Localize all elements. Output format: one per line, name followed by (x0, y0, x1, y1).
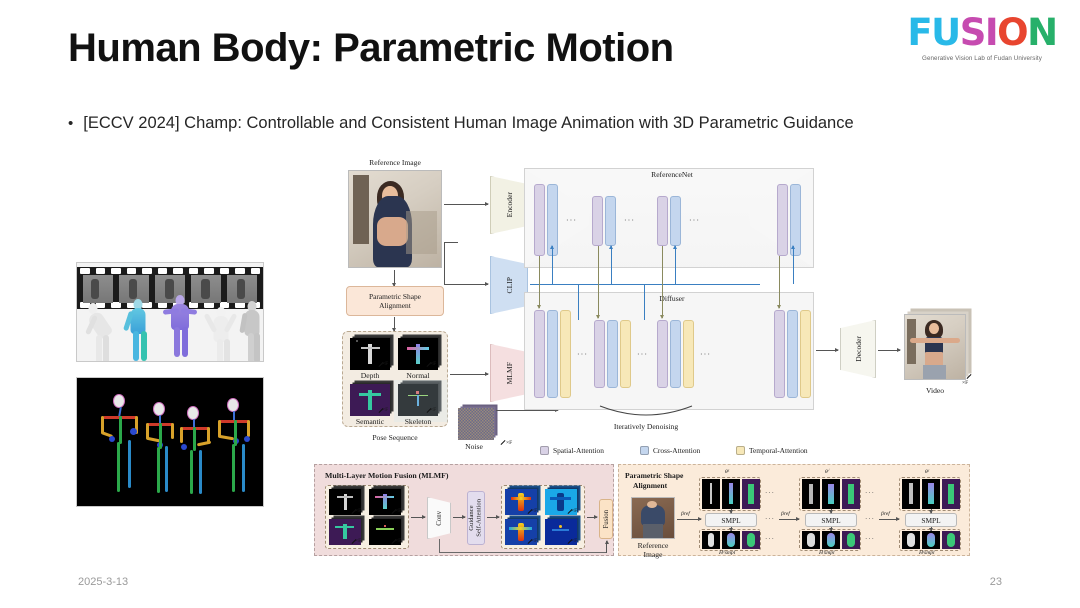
legend-temporal-attention: Temporal-Attention (736, 446, 808, 455)
diffuser-spatial-attention (594, 320, 605, 388)
psa-out-normal-3 (922, 531, 940, 549)
diffuser-temporal-attention (800, 310, 811, 398)
refnet-ellipsis: ··· (624, 216, 635, 225)
clip-to-refnet-link (611, 246, 612, 284)
refnet-spatial-attention (534, 184, 545, 256)
logo-tagline: Generative Vision Lab of Fudan Universit… (902, 55, 1062, 62)
psa-beta-label-1: βref (681, 511, 690, 517)
arrow-decoder-to-video (878, 350, 900, 351)
diffuser-ellipsis: ··· (577, 350, 588, 359)
footer-page-number: 23 (990, 576, 1002, 588)
clip-to-diffuser-link (644, 284, 645, 320)
psa-ellipsis-top-1: ··· (765, 489, 775, 497)
psa-h-label-2: Hⁱsmpl (819, 550, 835, 556)
arrow-theta-to-smpl-3 (931, 509, 932, 513)
psa-smpl-block-2: SMPL (805, 513, 857, 527)
arrow-ref-to-psa (394, 270, 395, 286)
mlmf-input-normal-multiplier: ×F (395, 508, 401, 514)
refnet-cross-attention (605, 196, 616, 246)
diffuser-cross-attention (607, 320, 618, 388)
parametric-body-mesh-figure (76, 262, 264, 362)
noise-multiplier: ×F (506, 440, 512, 446)
psa-out-normal-1 (722, 531, 740, 549)
mlmf-input-skeleton-multiplier: ×F (395, 538, 401, 544)
reference-image-caption: Reference Image (340, 158, 450, 167)
psa-label-line1: Parametric Shape (369, 292, 421, 301)
decoder-block: Decoder (840, 320, 876, 378)
psa-theta-label-2: θⁱ (825, 469, 829, 475)
diffuser-temporal-attention (620, 320, 631, 388)
arrow-mlmf-inputs-to-conv (411, 517, 425, 518)
refnet-to-diffuser-link (662, 246, 663, 318)
psa-depth-3 (902, 479, 920, 509)
diffuser-ellipsis: ··· (700, 350, 711, 359)
psa-out-semantic-2 (842, 531, 860, 549)
legend-cross-attention: Cross-Attention (640, 446, 700, 455)
refnet-spatial-attention (592, 196, 603, 246)
clip-label: CLIP (505, 277, 514, 293)
mesh-figure (87, 303, 113, 359)
psa-panel: Parametric Shape Alignment Reference Ima… (618, 464, 970, 556)
arrow-psa-beta-2 (779, 519, 799, 520)
legend-swatch-cross (640, 446, 649, 455)
psa-label-line2: Alignment (369, 301, 421, 310)
skeleton-pose-figure (76, 377, 264, 507)
psa-h-label-3: Hᶠsmpl (919, 550, 935, 556)
psa-reference-image (631, 497, 675, 539)
arrow-guidance-to-outputs (487, 517, 499, 518)
page-title: Human Body: Parametric Motion (68, 26, 674, 71)
psa-smpl-label-1: SMPL (721, 516, 740, 525)
psa-reference-caption: Reference Image (627, 541, 679, 560)
psa-theta-label-1: θ¹ (725, 469, 729, 475)
mlmf-conv-block: Conv (427, 497, 451, 539)
clip-to-refnet-link (675, 246, 676, 284)
modality-semantic-multiplier: ×F (382, 407, 388, 413)
reference-image-thumbnail (348, 170, 442, 268)
psa-ellipsis-bottom-1: ··· (765, 535, 775, 543)
diffuser-spatial-attention (657, 320, 668, 388)
clip-to-refnet-link (793, 246, 794, 284)
clip-cross-attention-line (530, 284, 760, 285)
psa-out-depth-3 (902, 531, 920, 549)
logo-letter-u: U (931, 14, 960, 51)
refnet-to-diffuser-link (779, 256, 780, 308)
psa-beta-label-3: βref (881, 511, 890, 517)
psa-out-semantic-1 (742, 531, 760, 549)
modality-depth-multiplier: ×F (382, 361, 388, 367)
mlmf-output-2-multiplier: ×F (571, 508, 577, 514)
footer-date: 2025-3-13 (78, 576, 128, 588)
champ-architecture-diagram: Reference Image Parametric Shape Alignme… (312, 158, 972, 558)
psa-normal-3 (922, 479, 940, 509)
logo-wordmark: FUSION (902, 14, 1062, 51)
mesh-figure (125, 299, 151, 359)
pose-sequence-caption: Pose Sequence (342, 433, 448, 442)
logo-letter-i: I (985, 14, 997, 51)
video-output-thumbnail (904, 314, 966, 380)
arrow-skip-to-fusion (606, 541, 607, 553)
psa-panel-title: Parametric Shape Alignment (625, 471, 683, 491)
mlmf-output-1-multiplier: ×F (531, 508, 537, 514)
iteratively-denoising-arc (598, 404, 694, 422)
legend-swatch-temporal (736, 446, 745, 455)
modality-depth-label: Depth (350, 371, 390, 380)
mlmf-output-4-multiplier: ×F (571, 538, 577, 544)
arrow-theta-to-smpl-1 (731, 509, 732, 513)
clip-block: CLIP (490, 256, 528, 314)
encoder-block: Encoder (490, 176, 528, 234)
legend-spatial-attention: Spatial-Attention (540, 446, 604, 455)
psa-out-depth-2 (802, 531, 820, 549)
refnet-ellipsis: ··· (566, 216, 577, 225)
psa-semantic-3 (942, 479, 960, 509)
refnet-ellipsis: ··· (689, 216, 700, 225)
psa-normal-1 (722, 479, 740, 509)
mlmf-panel: Multi-Layer Motion Fusion (MLMF) ×F ×F ×… (314, 464, 614, 556)
diffuser-spatial-attention (534, 310, 545, 398)
mlmf-input-depth-multiplier: ×F (355, 508, 361, 514)
psa-reference-line2: Image (627, 550, 679, 559)
psa-panel-title-line1: Parametric Shape (625, 471, 683, 481)
mesh-figure (240, 301, 264, 359)
logo-letter-o: O (997, 14, 1027, 51)
referencenet-label: ReferenceNet (612, 170, 732, 179)
refnet-cross-attention (670, 196, 681, 246)
logo-letter-s: S (960, 14, 985, 51)
bullet-item: • [ECCV 2024] Champ: Controllable and Co… (68, 114, 854, 133)
arrow-outputs-to-fusion (587, 517, 597, 518)
arrow-pose-to-mlmf (450, 374, 488, 375)
diffuser-cross-attention (547, 310, 558, 398)
psa-h-label-1: H¹smpl (719, 550, 735, 556)
encoder-label: Encoder (505, 192, 514, 217)
mlmf-fusion-label: Fusion (603, 510, 610, 529)
psa-theta-label-3: θᶠ (925, 469, 929, 475)
modality-skeleton-label: Skeleton (398, 417, 438, 426)
fusion-logo: FUSION Generative Vision Lab of Fudan Un… (902, 14, 1062, 62)
diffuser-cross-attention (787, 310, 798, 398)
parametric-shape-alignment-box: Parametric Shape Alignment (346, 286, 444, 316)
psa-out-depth-1 (702, 531, 720, 549)
logo-letter-f: F (907, 14, 931, 51)
psa-semantic-1 (742, 479, 760, 509)
legend-swatch-spatial (540, 446, 549, 455)
noise-input (458, 408, 494, 440)
iteratively-denoising-label: Iteratively Denoising (596, 422, 696, 431)
psa-ellipsis-mid-2: ··· (865, 515, 875, 523)
psa-semantic-2 (842, 479, 860, 509)
psa-ellipsis-top-2: ··· (865, 489, 875, 497)
psa-smpl-label-2: SMPL (821, 516, 840, 525)
psa-reference-line1: Reference (627, 541, 679, 550)
psa-depth-1 (702, 479, 720, 509)
video-label: Video (904, 386, 966, 395)
skeleton-figure (213, 398, 263, 502)
modality-normal-label: Normal (398, 371, 438, 380)
legend-label-spatial: Spatial-Attention (553, 446, 604, 455)
mlmf-input-semantic-multiplier: ×F (355, 538, 361, 544)
diffuser-temporal-attention (683, 320, 694, 388)
refnet-to-diffuser-link (598, 246, 599, 318)
psa-normal-2 (822, 479, 840, 509)
mlmf-conv-label: Conv (436, 511, 443, 526)
psa-out-semantic-3 (942, 531, 960, 549)
logo-letter-n: N (1027, 14, 1056, 51)
guidance-self-attention-label: GuidanceSelf-Attention (468, 499, 483, 537)
diffuser-cross-attention (670, 320, 681, 388)
arrow-conv-to-guidance (453, 517, 465, 518)
arrow-ref-to-encoder (444, 204, 488, 205)
refnet-spatial-attention (777, 184, 788, 256)
arrow-noise-to-diffuser (496, 410, 558, 411)
mesh-figure (207, 307, 235, 359)
arrow-psa-ref-to-smpl (677, 519, 701, 520)
psa-beta-label-2: βref (781, 511, 790, 517)
clip-to-diffuser-link (578, 284, 579, 320)
diffuser-spatial-attention (774, 310, 785, 398)
decoder-label: Decoder (854, 336, 863, 362)
psa-panel-title-line2: Alignment (625, 481, 683, 491)
refnet-spatial-attention (657, 196, 668, 246)
psa-ellipsis-bottom-2: ··· (865, 535, 875, 543)
psa-out-normal-2 (822, 531, 840, 549)
guidance-self-attention-block: GuidanceSelf-Attention (467, 491, 485, 545)
mlmf-label: MLMF (505, 362, 514, 384)
psa-smpl-block-1: SMPL (705, 513, 757, 527)
mlmf-panel-title: Multi-Layer Motion Fusion (MLMF) (325, 471, 449, 480)
noise-label: Noise (452, 442, 496, 451)
diffuser-label: Diffuser (612, 294, 732, 303)
legend-label-temporal: Temporal-Attention (749, 446, 808, 455)
bullet-marker: • (68, 116, 73, 131)
mesh-figure (163, 295, 197, 359)
arrow-theta-to-smpl-2 (831, 509, 832, 513)
diffuser-temporal-attention (560, 310, 571, 398)
modality-semantic-label: Semantic (348, 417, 392, 426)
modality-normal-multiplier: ×F (430, 361, 436, 367)
psa-ellipsis-mid-1: ··· (765, 515, 775, 523)
modality-skeleton-multiplier: ×F (430, 407, 436, 413)
mlmf-block: MLMF (490, 344, 528, 402)
arrow-ref-to-clip (444, 284, 488, 285)
arrow-psa-beta-3 (879, 519, 899, 520)
clip-to-refnet-link (552, 246, 553, 284)
psa-depth-2 (802, 479, 820, 509)
arrow-diffuser-to-decoder (816, 350, 838, 351)
refnet-to-diffuser-link (539, 256, 540, 308)
mlmf-output-3-multiplier: ×F (531, 538, 537, 544)
psa-smpl-label-3: SMPL (921, 516, 940, 525)
legend-label-cross: Cross-Attention (653, 446, 700, 455)
psa-smpl-block-3: SMPL (905, 513, 957, 527)
diffuser-ellipsis: ··· (637, 350, 648, 359)
bullet-text: [ECCV 2024] Champ: Controllable and Cons… (83, 114, 853, 133)
mlmf-fusion-block: Fusion (599, 499, 613, 539)
arrow-psa-to-pose (394, 317, 395, 331)
